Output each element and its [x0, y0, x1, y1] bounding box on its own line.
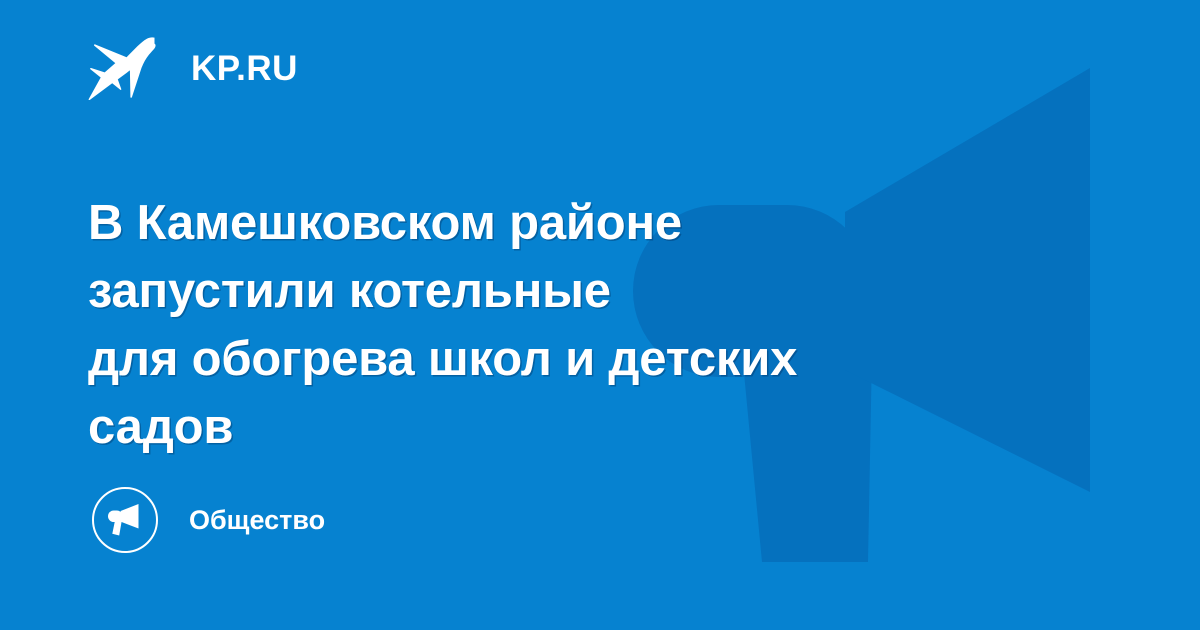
megaphone-icon-circle — [92, 487, 158, 553]
category-badge[interactable]: Общество — [92, 486, 325, 554]
headline-line: для обогрева школ и детских — [88, 325, 988, 393]
headline-line: запустили котельные — [88, 257, 988, 325]
share-card: KP.RU В Камешковском районе запустили ко… — [0, 0, 1200, 630]
headline-line: В Камешковском районе — [88, 189, 988, 257]
category-badge-label: Общество — [189, 507, 325, 534]
megaphone-icon — [107, 503, 143, 537]
site-header: KP.RU — [88, 34, 298, 102]
brand-wordmark: KP.RU — [191, 51, 298, 86]
page-title: В Камешковском районе запустили котельны… — [88, 189, 988, 461]
headline-line: садов — [88, 393, 988, 461]
swallow-bird-icon — [88, 36, 158, 100]
